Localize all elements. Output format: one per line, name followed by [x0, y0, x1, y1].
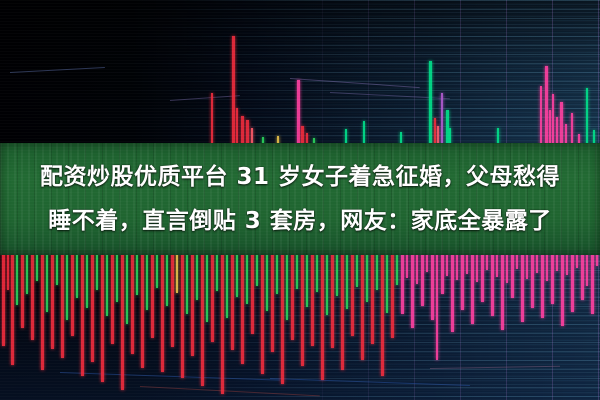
chart-bar: [256, 250, 258, 286]
chart-bar: [311, 250, 314, 346]
chart-bar: [251, 250, 254, 334]
chart-bar: [2, 250, 5, 346]
chart-bar: [21, 250, 24, 328]
chart-bar: [591, 250, 594, 314]
chart-bar: [540, 86, 542, 146]
chart-bar: [321, 250, 324, 380]
chart-bar: [351, 250, 354, 336]
chart-bar: [76, 250, 78, 298]
chart-bar: [31, 250, 34, 340]
chart-bar: [297, 80, 300, 146]
chart-bar: [336, 250, 338, 296]
chart-bar: [549, 110, 551, 146]
chart-bar: [206, 250, 208, 322]
chart-bar: [131, 250, 134, 354]
chart-bar: [356, 250, 358, 287]
chart-bar: [266, 250, 268, 311]
chart-bar: [96, 250, 98, 290]
chart-bar: [126, 250, 128, 324]
chart-bar: [211, 93, 213, 146]
chart-bar: [56, 250, 58, 285]
chart-bar: [181, 250, 184, 378]
chart-bar: [501, 250, 504, 330]
chart-bar: [241, 250, 244, 364]
chart-bar: [586, 88, 588, 146]
chart-bar: [541, 250, 544, 318]
chart-bar: [221, 250, 224, 394]
chart-bar: [161, 250, 164, 372]
chart-bar: [341, 250, 344, 370]
chart-bar: [429, 61, 432, 146]
chart-bar: [176, 250, 178, 293]
chart-bar: [291, 250, 294, 340]
chart-bar: [316, 250, 318, 292]
chart-bar: [46, 250, 48, 312]
chart-bar: [146, 250, 148, 310]
headline-line-2: 睡不着，直言倒贴 3 套房，网友：家底全暴露了: [48, 200, 552, 242]
chart-bar: [216, 250, 218, 291]
chart-bar: [201, 250, 204, 386]
banner-image: 配资炒股优质平台 31 岁女子着急征婚，父母愁得 睡不着，直言倒贴 3 套房，网…: [0, 0, 600, 400]
chart-bar: [66, 250, 68, 320]
chart-bar: [231, 250, 234, 350]
chart-bar: [346, 250, 348, 309]
chart-bar: [381, 250, 384, 376]
chart-bar: [561, 250, 564, 326]
chart-bar: [306, 250, 308, 307]
chart-bar: [545, 66, 548, 146]
chart-bar: [441, 250, 444, 294]
chart-bar: [451, 250, 454, 332]
chart-bar: [571, 113, 573, 146]
chart-bar: [151, 250, 154, 338]
chart-bar: [586, 250, 588, 286]
chart-bar: [26, 250, 28, 294]
chart-bar: [286, 250, 288, 320]
chart-bar: [552, 94, 554, 146]
chart-bar: [196, 250, 198, 300]
chart-bar: [191, 250, 194, 356]
chart-bar: [11, 250, 14, 365]
chart-bar: [581, 250, 584, 300]
chart-bar: [434, 118, 436, 146]
chart-bar: [281, 250, 284, 384]
chart-bar: [371, 250, 374, 344]
chart-bar: [211, 250, 214, 342]
chart-bar: [521, 250, 524, 322]
chart-bar: [246, 250, 248, 304]
chart-bar: [276, 250, 278, 294]
headline-banner: 配资炒股优质平台 31 岁女子着急征婚，父母愁得 睡不着，直言倒贴 3 套房，网…: [0, 143, 600, 255]
chart-bar: [86, 250, 88, 308]
chart-bar: [232, 36, 235, 146]
chart-bar: [171, 250, 174, 347]
chart-bar: [556, 117, 558, 146]
chart-bar: [61, 250, 64, 358]
chart-bar: [391, 250, 394, 338]
chart-upper-bars: [0, 0, 600, 146]
chart-bar: [271, 250, 274, 352]
chart-bar: [101, 250, 104, 382]
chart-bar: [51, 250, 54, 349]
chart-bar: [531, 250, 534, 308]
chart-bar: [296, 250, 298, 289]
chart-bar: [81, 250, 84, 376]
chart-bar: [396, 250, 398, 285]
chart-bar: [491, 250, 494, 316]
chart-bar: [511, 250, 514, 298]
chart-bar: [461, 250, 464, 310]
chart-bar: [471, 250, 474, 324]
chart-bar: [560, 102, 563, 146]
chart-bar: [236, 108, 238, 146]
chart-bar: [156, 250, 158, 288]
chart-bar: [331, 250, 334, 348]
chart-bar: [301, 250, 304, 366]
chart-bar: [401, 250, 404, 314]
chart-bar: [431, 250, 434, 320]
chart-bar: [41, 250, 44, 370]
chart-bar: [16, 250, 18, 305]
chart-bar: [186, 250, 188, 314]
chart-bar: [141, 250, 144, 368]
chart-bar: [571, 250, 574, 312]
chart-bar: [106, 250, 108, 316]
chart-bar: [386, 250, 388, 313]
chart-bar: [416, 250, 418, 284]
headline-line-1: 配资炒股优质平台 31 岁女子着急征婚，父母愁得: [40, 156, 560, 198]
chart-bar: [111, 250, 114, 344]
chart-bar: [166, 250, 168, 306]
chart-bar: [361, 250, 364, 360]
chart-bar: [121, 250, 124, 390]
chart-lower-bars: [0, 250, 600, 400]
chart-bar: [71, 250, 74, 336]
chart-bar: [241, 116, 244, 146]
chart-bar: [136, 250, 138, 295]
chart-bar: [421, 250, 424, 306]
chart-bar: [366, 250, 368, 302]
chart-bar: [116, 250, 118, 302]
chart-bar: [261, 250, 264, 374]
chart-bar: [226, 250, 228, 318]
chart-bar: [376, 250, 378, 290]
chart-bar: [551, 250, 554, 304]
chart-bar: [326, 250, 328, 315]
chart-bar: [236, 250, 238, 297]
chart-bar: [7, 250, 9, 290]
chart-bar: [91, 250, 94, 362]
chart-bar: [436, 250, 438, 360]
chart-bar: [481, 250, 484, 302]
chart-bar: [441, 93, 443, 146]
chart-bar: [411, 250, 414, 328]
